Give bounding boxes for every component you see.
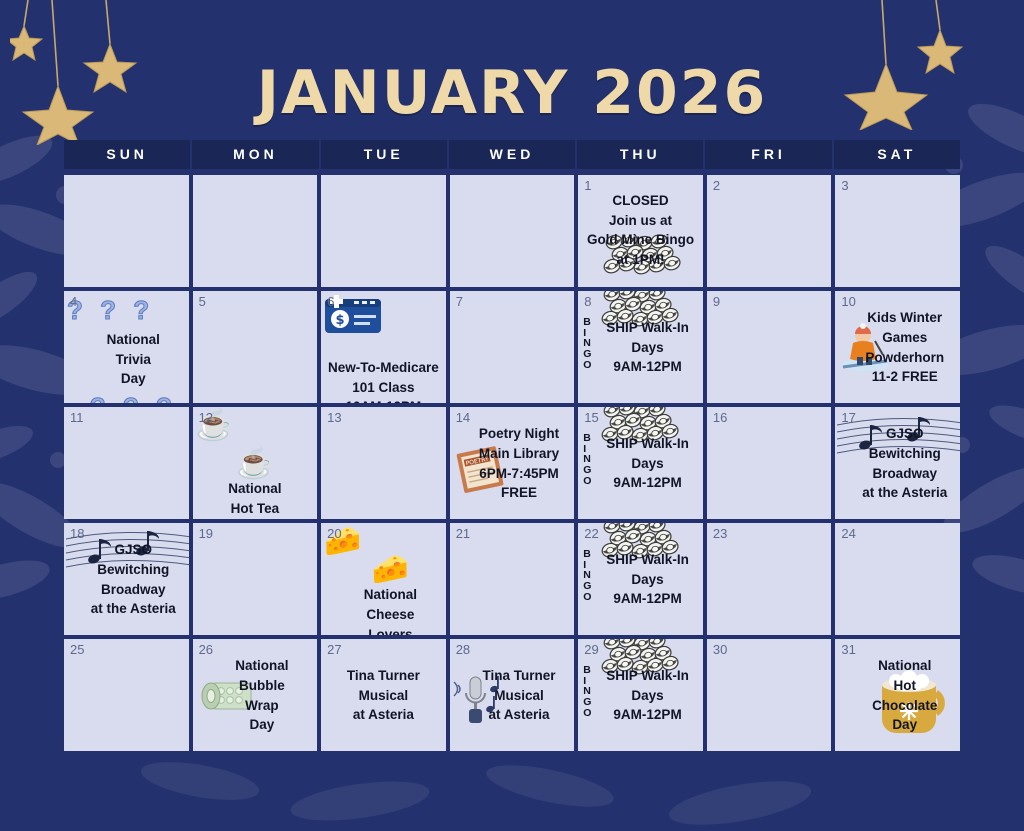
event-line: Main Library: [479, 444, 559, 464]
weekday-thu: THU: [577, 140, 703, 169]
weekday-sat: SAT: [834, 140, 960, 169]
event-line: 9AM-12PM: [613, 705, 681, 725]
calendar-cell-21: 21: [450, 523, 575, 635]
event-text: ☕NationalHot TeaDay: [196, 441, 315, 519]
medicare-card-icon: $: [324, 295, 443, 335]
event-text: 🧀NationalCheeseLoversDay: [324, 557, 443, 635]
event-line: Games: [882, 328, 927, 348]
weekday-wed: WED: [449, 140, 575, 169]
event-line: Bewitching: [97, 560, 169, 580]
event-line: Days: [631, 454, 663, 474]
calendar-cell-29: 29BINGOSHIP Walk-InDays9AM-12PM: [578, 639, 703, 751]
calendar-cell-6: 6$New-To-Medicare101 Class10AM-12PM: [321, 291, 446, 403]
weekday-header: SUN MON TUE WED THU FRI SAT: [64, 140, 960, 169]
event-line: National: [364, 585, 417, 605]
event-text: [710, 179, 829, 284]
day-number: 6: [327, 294, 334, 309]
day-number: 12: [199, 410, 213, 425]
event-text: SHIP Walk-InDays9AM-12PM: [581, 643, 700, 748]
event-text: Tina TurnerMusicalat Asteria: [324, 643, 443, 748]
event-line: 6PM-7:45PM: [479, 464, 559, 484]
bingo-vertical-label: BINGO: [583, 549, 591, 603]
event-text: SHIP Walk-InDays9AM-12PM: [581, 527, 700, 632]
event-line: SHIP Walk-In: [606, 550, 689, 570]
event-line: Hot Tea: [231, 499, 280, 519]
calendar-cell-19: 19: [193, 523, 318, 635]
event-line: FREE: [501, 483, 537, 503]
calendar-grid: 1CLOSEDJoin us atGold Mine Bingoat 1PM!2…: [64, 175, 960, 751]
calendar-cell-15: 15BINGOSHIP Walk-InDays9AM-12PM: [578, 407, 703, 519]
event-text: [838, 527, 957, 632]
event-text: [710, 643, 829, 748]
calendar-cell-28: 28Tina TurnerMusicalat Asteria: [450, 639, 575, 751]
teacup-art: ☕: [196, 411, 315, 441]
event-line: at 1PM!: [617, 250, 665, 270]
calendar-cell-24: 24: [835, 523, 960, 635]
weekday-sun: SUN: [64, 140, 190, 169]
event-text: NationalTriviaDay? ? ?: [67, 326, 186, 403]
event-line: Chocolate: [872, 696, 937, 716]
event-line: Hot: [893, 676, 916, 696]
event-line: Bubble: [239, 676, 285, 696]
event-line: New-To-Medicare: [328, 358, 439, 378]
event-line: 11-2 FREE: [872, 367, 938, 387]
event-line: GJSO: [115, 540, 153, 560]
question-marks-art: ? ? ?: [67, 295, 186, 326]
event-text: NationalBubbleWrapDay: [196, 643, 315, 748]
svg-text:$: $: [336, 313, 345, 328]
calendar-cell-empty: [450, 175, 575, 287]
event-line: 9AM-12PM: [613, 589, 681, 609]
event-text: [838, 179, 957, 284]
calendar-cell-27: 27Tina TurnerMusicalat Asteria: [321, 639, 446, 751]
event-line: Cheese: [366, 605, 414, 625]
event-line: Kids Winter: [867, 308, 942, 328]
event-text: Poetry NightMain Library6PM-7:45PMFREE: [453, 411, 572, 516]
event-text: SHIP Walk-InDays9AM-12PM: [581, 411, 700, 516]
event-line: 9AM-12PM: [613, 357, 681, 377]
calendar-cell-9: 9: [707, 291, 832, 403]
event-text: NationalHotChocolateDay: [838, 643, 957, 748]
calendar-cell-1: 1CLOSEDJoin us atGold Mine Bingoat 1PM!: [578, 175, 703, 287]
calendar-cell-empty: [321, 175, 446, 287]
event-line: 10AM-12PM: [346, 397, 422, 403]
event-text: [67, 643, 186, 748]
event-line: SHIP Walk-In: [606, 666, 689, 686]
event-line: Day: [892, 715, 917, 735]
event-line: Poetry Night: [479, 424, 559, 444]
event-line: National: [878, 656, 931, 676]
calendar-cell-23: 23: [707, 523, 832, 635]
event-line: Musical: [359, 686, 409, 706]
event-text: [710, 527, 829, 632]
event-line: Broadway: [872, 464, 937, 484]
day-number: 4: [70, 294, 77, 309]
event-line: 9AM-12PM: [613, 473, 681, 493]
event-line: Day: [242, 518, 267, 519]
calendar-cell-2: 2: [707, 175, 832, 287]
event-line: 101 Class: [352, 378, 414, 398]
calendar-cell-14: 14POETRYPoetry NightMain Library6PM-7:45…: [450, 407, 575, 519]
calendar-cell-26: 26NationalBubbleWrapDay: [193, 639, 318, 751]
calendar-cell-22: 22BINGOSHIP Walk-InDays9AM-12PM: [578, 523, 703, 635]
event-line: National: [107, 330, 160, 350]
calendar-cell-20: 20🧀🧀NationalCheeseLoversDay: [321, 523, 446, 635]
event-line: Day: [249, 715, 274, 735]
bingo-vertical-label: BINGO: [583, 433, 591, 487]
calendar-cell-8: 8BINGOSHIP Walk-InDays9AM-12PM: [578, 291, 703, 403]
event-line: Days: [631, 570, 663, 590]
event-line: Broadway: [101, 580, 166, 600]
event-line: GJSO: [886, 424, 924, 444]
event-text: GJSOBewitchingBroadwayat the Asteria: [67, 527, 186, 632]
calendar-cell-16: 16: [707, 407, 832, 519]
weekday-fri: FRI: [705, 140, 831, 169]
day-number: 20: [327, 526, 341, 541]
event-text: [196, 295, 315, 400]
event-line: Gold Mine Bingo: [587, 230, 694, 250]
event-text: [324, 411, 443, 516]
event-text: GJSOBewitchingBroadwayat the Asteria: [838, 411, 957, 516]
calendar-cell-11: 11: [64, 407, 189, 519]
calendar-cell-10: 10Kids WinterGamesPowderhorn11-2 FREE: [835, 291, 960, 403]
event-line: Lovers: [368, 625, 412, 636]
event-text: [710, 411, 829, 516]
question-marks-art: ? ? ?: [90, 389, 177, 403]
calendar: SUN MON TUE WED THU FRI SAT 1CLOSEDJoin …: [64, 140, 960, 751]
event-line: at Asteria: [353, 705, 414, 725]
event-line: National: [235, 656, 288, 676]
event-line: Trivia: [116, 350, 151, 370]
event-line: SHIP Walk-In: [606, 434, 689, 454]
calendar-cell-13: 13: [321, 407, 446, 519]
calendar-cell-31: 31NationalHotChocolateDay: [835, 639, 960, 751]
event-line: Wrap: [245, 696, 279, 716]
calendar-cell-3: 3: [835, 175, 960, 287]
bingo-vertical-label: BINGO: [583, 317, 591, 371]
event-text: Tina TurnerMusicalat Asteria: [453, 643, 572, 748]
calendar-cell-empty: [64, 175, 189, 287]
event-line: Bewitching: [869, 444, 941, 464]
weekday-mon: MON: [192, 140, 318, 169]
event-line: Join us at: [609, 211, 672, 231]
calendar-cell-7: 7: [450, 291, 575, 403]
event-text: [196, 527, 315, 632]
calendar-cell-30: 30: [707, 639, 832, 751]
event-text: [453, 527, 572, 632]
event-text: [67, 411, 186, 516]
calendar-cell-25: 25: [64, 639, 189, 751]
event-line: at the Asteria: [862, 483, 947, 503]
event-line: at the Asteria: [91, 599, 176, 619]
event-text: CLOSEDJoin us atGold Mine Bingoat 1PM!: [581, 179, 700, 284]
calendar-cell-18: 18GJSOBewitchingBroadwayat the Asteria: [64, 523, 189, 635]
event-text: SHIP Walk-InDays9AM-12PM: [581, 295, 700, 400]
event-text: New-To-Medicare101 Class10AM-12PM: [324, 335, 443, 403]
event-line: National: [228, 479, 281, 499]
event-line: CLOSED: [612, 191, 668, 211]
calendar-cell-5: 5: [193, 291, 318, 403]
event-line: Musical: [494, 686, 544, 706]
event-text: [453, 295, 572, 400]
calendar-cell-4: 4? ? ?NationalTriviaDay? ? ?: [64, 291, 189, 403]
calendar-cell-12: 12☕☕NationalHot TeaDay: [193, 407, 318, 519]
event-line: Tina Turner: [482, 666, 555, 686]
event-line: Day: [121, 369, 146, 389]
event-line: at Asteria: [488, 705, 549, 725]
bingo-vertical-label: BINGO: [583, 665, 591, 719]
event-line: Days: [631, 686, 663, 706]
event-line: Days: [631, 338, 663, 358]
weekday-tue: TUE: [321, 140, 447, 169]
page-title: JANUARY 2026: [0, 58, 1024, 128]
calendar-cell-empty: [193, 175, 318, 287]
event-line: Tina Turner: [347, 666, 420, 686]
cheese-art: 🧀: [372, 555, 409, 585]
event-line: Powderhorn: [865, 348, 944, 368]
event-text: Kids WinterGamesPowderhorn11-2 FREE: [838, 295, 957, 400]
event-line: SHIP Walk-In: [606, 318, 689, 338]
calendar-cell-17: 17GJSOBewitchingBroadwayat the Asteria: [835, 407, 960, 519]
teacup-art: ☕: [236, 449, 273, 479]
event-text: [710, 295, 829, 400]
